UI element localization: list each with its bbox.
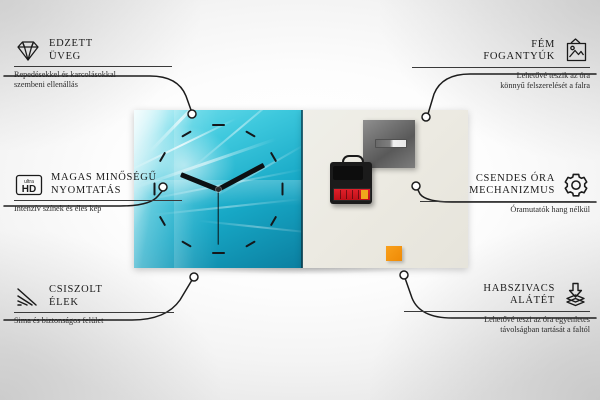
diamond-icon <box>14 39 42 63</box>
clock-tick <box>281 183 283 196</box>
battery-band <box>346 190 347 199</box>
battery-positive-terminal <box>361 190 368 199</box>
feature-header: FÉM FOGANTYÚK <box>412 38 590 64</box>
battery <box>333 188 371 201</box>
feature-title: EDZETT ÜVEG <box>49 38 93 63</box>
clock-tick <box>159 216 166 227</box>
picture-hanger-icon <box>562 38 590 64</box>
battery-band <box>358 190 359 199</box>
divider <box>412 67 590 68</box>
clock-tick <box>181 241 192 248</box>
feature-description: Intenzív színek és éles kép <box>14 204 182 214</box>
feature-header: CSENDES ÓRA MECHANIZMUS <box>420 172 590 198</box>
feature-fem-fogantyuk: FÉM FOGANTYÚK Lehetővé teszik az óra kön… <box>412 38 590 91</box>
feature-header: CSISZOLT ÉLEK <box>14 284 174 309</box>
clock-tick <box>181 130 192 137</box>
feature-header: ultra HD MAGAS MINŐSÉGŰ NYOMTATÁS <box>14 172 182 197</box>
divider <box>420 201 590 202</box>
hanger-slot <box>375 139 407 148</box>
feature-title: MAGAS MINŐSÉGŰ NYOMTATÁS <box>51 172 157 197</box>
feature-magas-minosegu-nyomtatas: ultra HD MAGAS MINŐSÉGŰ NYOMTATÁS Intenz… <box>14 172 182 214</box>
feature-title: CSISZOLT ÉLEK <box>49 284 103 309</box>
clock-hand-second <box>217 189 218 245</box>
product-image <box>134 110 468 268</box>
divider <box>404 311 590 312</box>
feature-edzett-uveg: EDZETT ÜVEG Repedésekkel és karcolásokka… <box>14 38 172 90</box>
divider <box>14 312 174 313</box>
feature-title: HABSZIVACS ALÁTÉT <box>483 283 555 308</box>
feature-title: FÉM FOGANTYÚK <box>483 39 555 64</box>
panel-seam <box>301 110 303 268</box>
feature-habszivacs-alatet: HABSZIVACS ALÁTÉT Lehetővé teszi az óra … <box>404 282 590 335</box>
divider <box>14 66 172 67</box>
feature-header: EDZETT ÜVEG <box>14 38 172 63</box>
metal-hanger-plate <box>363 120 415 168</box>
infographic-canvas: EDZETT ÜVEG Repedésekkel és karcolásokka… <box>0 0 600 400</box>
clock-tick <box>245 130 256 137</box>
clock-hand-hub <box>216 187 221 192</box>
feature-description: Óramutatók hang nélkül <box>420 205 590 215</box>
clock-mechanism <box>330 162 372 204</box>
feature-title: CSENDES ÓRA MECHANIZMUS <box>469 173 555 198</box>
clock-tick <box>245 241 256 248</box>
feature-csiszolt-elek: CSISZOLT ÉLEK Sima és biztonságos felüle… <box>14 284 174 326</box>
mechanism-body <box>333 166 363 180</box>
clock-tick <box>212 252 225 254</box>
feature-description: Lehetővé teszi az óra egyenletes távolsá… <box>404 315 590 335</box>
beveled-edges-icon <box>14 285 42 309</box>
feature-description: Sima és biztonságos felület <box>14 316 174 326</box>
clock-tick <box>270 216 277 227</box>
feature-description: Lehetővé teszik az óra könnyű felszerelé… <box>412 71 590 91</box>
battery-band <box>340 190 341 199</box>
foam-pad <box>386 246 402 261</box>
feature-csendes-ora-mechanizmus: CSENDES ÓRA MECHANIZMUS Óramutatók hang … <box>420 172 590 215</box>
feature-header: HABSZIVACS ALÁTÉT <box>404 282 590 308</box>
gear-icon <box>562 172 590 198</box>
clock-tick <box>212 124 225 126</box>
feather-streak <box>198 220 302 235</box>
battery-band <box>352 190 353 199</box>
ultra-hd-badge-icon: ultra HD <box>14 173 44 197</box>
feature-description: Repedésekkel és karcolásokkal szembeni e… <box>14 70 172 90</box>
divider <box>14 200 182 201</box>
badge-large-text: HD <box>22 184 36 195</box>
foam-pad-press-icon <box>562 282 590 308</box>
